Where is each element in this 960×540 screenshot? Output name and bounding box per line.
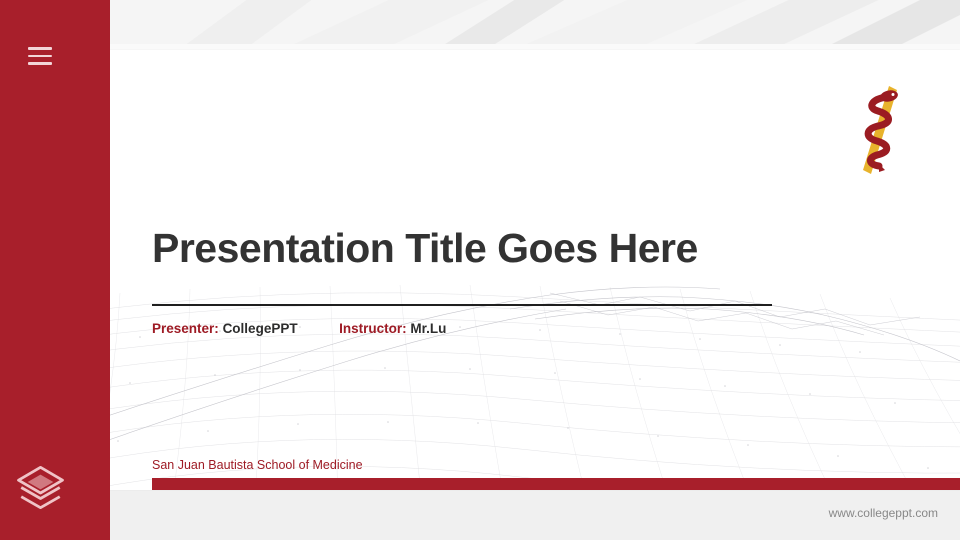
rod-of-asclepius-icon: [845, 80, 915, 180]
page-title: Presentation Title Goes Here: [152, 225, 698, 272]
layers-stack-logo-icon[interactable]: [13, 460, 68, 515]
sidebar-rail: [0, 0, 110, 540]
presentation-slide: Presentation Title Goes Here Presenter: …: [80, 50, 960, 490]
top-swoosh-band: [110, 0, 960, 50]
hamburger-line-2: [28, 55, 52, 58]
hamburger-menu-icon[interactable]: [28, 47, 52, 65]
school-name: San Juan Bautista School of Medicine: [152, 458, 363, 472]
presenter-label: Presenter:: [152, 321, 219, 336]
instructor-value: Mr.Lu: [410, 321, 446, 336]
presenter-value: CollegePPT: [223, 321, 298, 336]
instructor-label: Instructor:: [339, 321, 407, 336]
title-divider: [152, 304, 772, 306]
slide-bottom-bar: [152, 478, 960, 490]
byline: Presenter: CollegePPT Instructor: Mr.Lu: [152, 321, 446, 336]
hamburger-line-3: [28, 62, 52, 65]
site-url: www.collegeppt.com: [829, 506, 938, 520]
slide-viewer: Presentation Title Goes Here Presenter: …: [0, 0, 960, 540]
hamburger-line-1: [28, 47, 52, 50]
diagonal-swoosh-bands-icon: [110, 0, 960, 50]
